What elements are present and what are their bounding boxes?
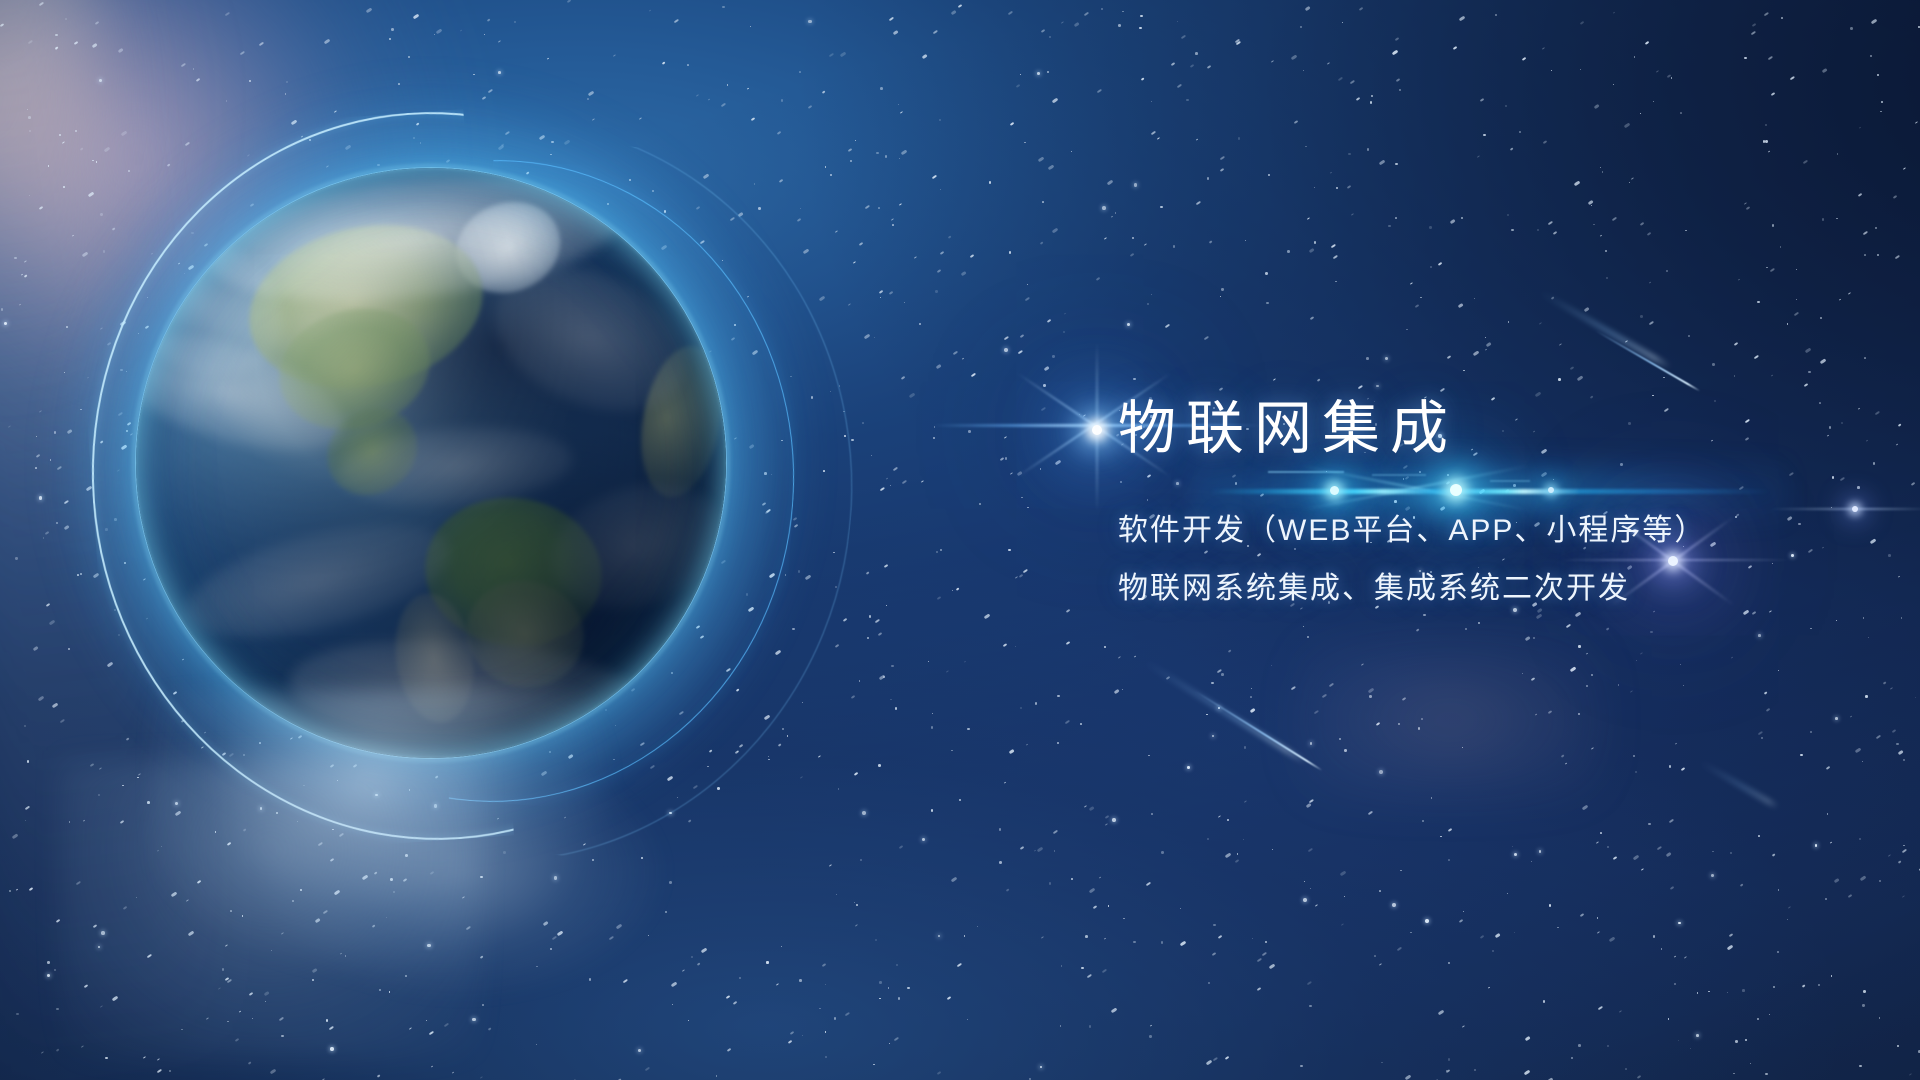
banner-stage: 物联网集成 软件开发（WEB平台、APP、小程序等） 物联网系统集成、集成系统二… (0, 0, 1920, 1080)
cloud-reflection-soft (60, 760, 480, 1060)
banner-subtitle-2: 物联网系统集成、集成系统二次开发 (1118, 574, 1878, 604)
banner-subtitle-1: 软件开发（WEB平台、APP、小程序等） (1118, 516, 1878, 546)
warm-haze (1300, 640, 1600, 800)
page-title: 物联网集成 (1118, 400, 1878, 458)
banner-text-block: 物联网集成 软件开发（WEB平台、APP、小程序等） 物联网系统集成、集成系统二… (1118, 400, 1878, 604)
